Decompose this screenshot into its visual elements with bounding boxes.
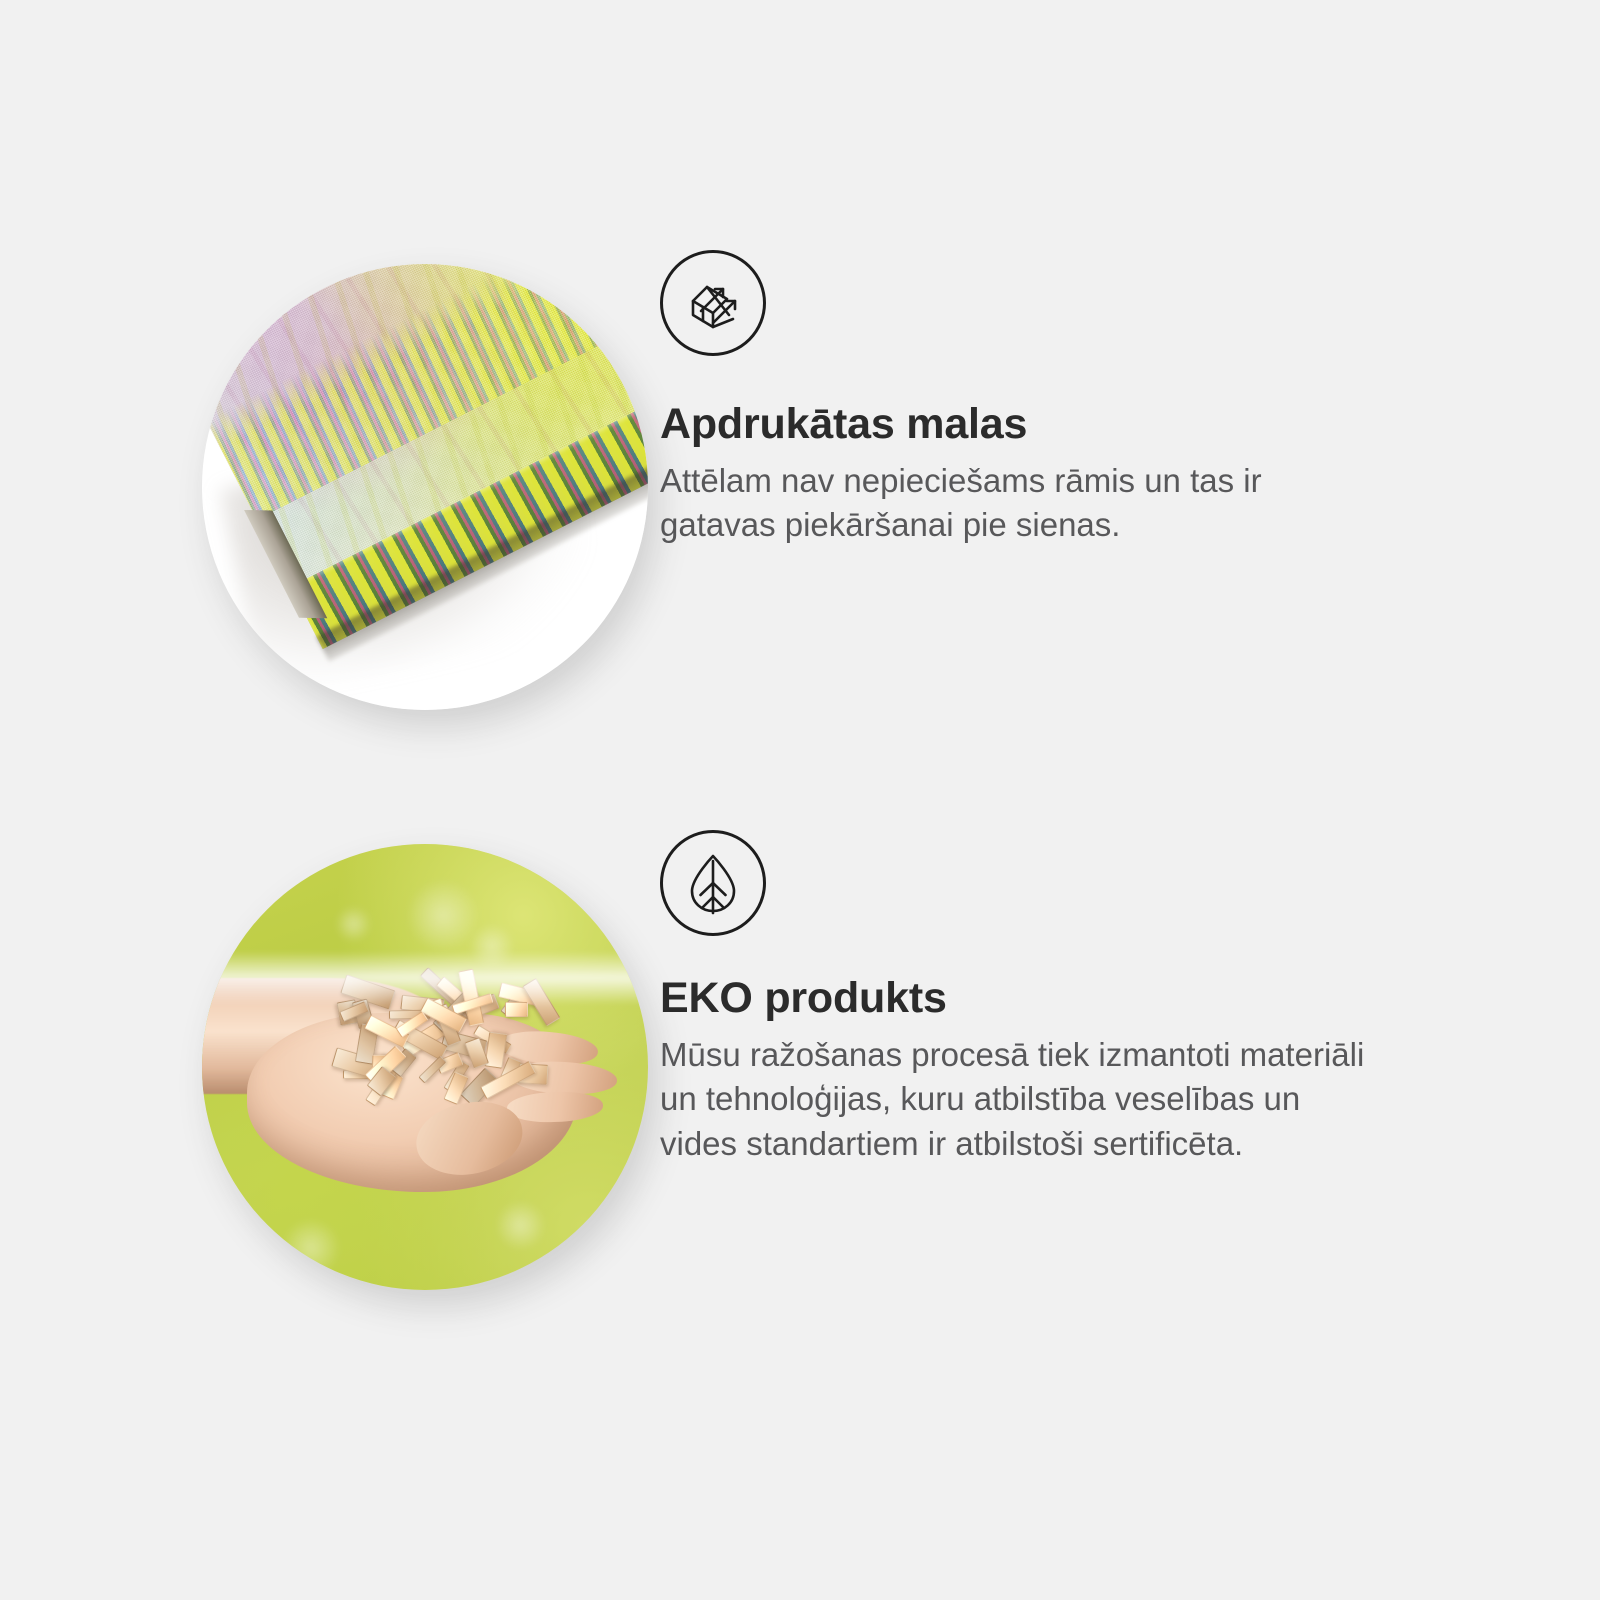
hand-holding-wood-chips-photo	[202, 844, 648, 1290]
feature-1-title: Apdrukātas malas	[660, 402, 1390, 447]
feature-1-copy: Apdrukātas malas Attēlam nav nepieciešam…	[660, 250, 1390, 548]
feature-2-title: EKO produkts	[660, 976, 1390, 1021]
feature-eco-product: EKO produkts Mūsu ražošanas procesā tiek…	[0, 830, 1390, 1310]
feature-1-media	[0, 250, 660, 730]
feature-1-description: Attēlam nav nepieciešams rāmis un tas ir…	[660, 459, 1370, 547]
product-features-page: Apdrukātas malas Attēlam nav nepieciešam…	[0, 0, 1600, 1600]
feature-2-description: Mūsu ražošanas procesā tiek izmantoti ma…	[660, 1033, 1370, 1166]
canvas-wrapped-edges-icon	[660, 250, 766, 356]
leaf-icon	[660, 830, 766, 936]
canvas-print-corner-photo	[202, 264, 648, 710]
feature-2-media	[0, 830, 660, 1310]
feature-printed-edges: Apdrukātas malas Attēlam nav nepieciešam…	[0, 250, 1390, 730]
feature-2-copy: EKO produkts Mūsu ražošanas procesā tiek…	[660, 830, 1390, 1166]
